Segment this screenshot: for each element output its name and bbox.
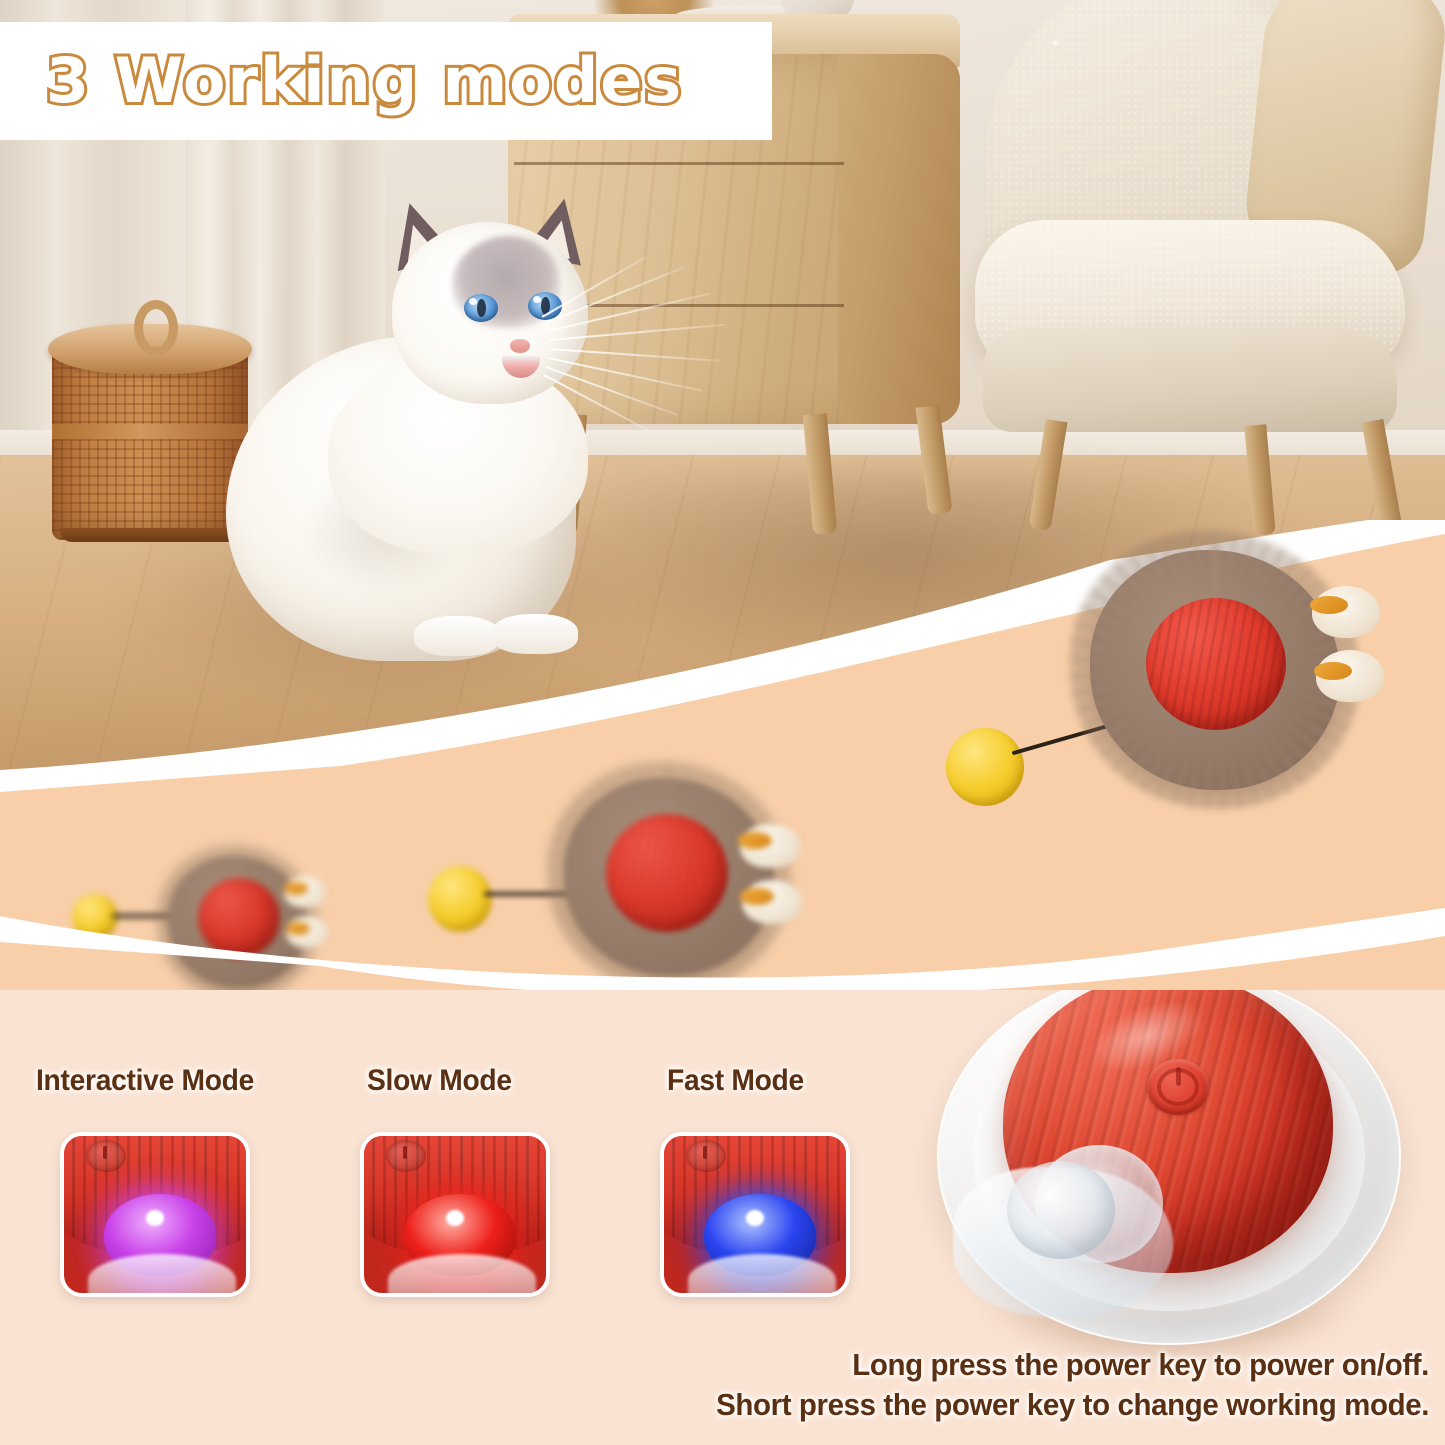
cat-pupil-left xyxy=(477,299,486,317)
crystal-wheel xyxy=(1007,1161,1115,1259)
power-icon xyxy=(686,1140,726,1172)
led-highlight xyxy=(446,1210,464,1226)
nightstand-drawer-seam xyxy=(514,162,844,165)
instructions-block: Long press the power key to power on/off… xyxy=(0,1345,1445,1424)
toy-medium-blurred xyxy=(428,768,828,990)
toy-large-sharp xyxy=(910,550,1445,850)
hero-product-image xyxy=(925,955,1415,1355)
claw-tip xyxy=(286,922,310,935)
nightstand-side-panel xyxy=(838,54,960,424)
mode-label-slow: Slow Mode xyxy=(367,1064,512,1098)
cat-nose xyxy=(510,339,530,353)
page-title: 3 Working modes xyxy=(46,44,683,117)
claw-tip xyxy=(1314,662,1352,680)
instruction-line-1: Long press the power key to power on/off… xyxy=(71,1345,1429,1385)
crystal-wheel xyxy=(388,1254,536,1297)
cat-eye-glint-right xyxy=(533,296,541,303)
led-highlight xyxy=(146,1210,164,1226)
nightstand-leg xyxy=(916,405,953,515)
armchair-leg xyxy=(1029,419,1068,531)
instruction-line-2: Short press the power key to change work… xyxy=(71,1385,1429,1425)
basket-handle-icon xyxy=(134,300,178,356)
claw-tip xyxy=(740,888,774,905)
mode-label-interactive: Interactive Mode xyxy=(36,1064,254,1098)
crystal-wheel xyxy=(688,1254,836,1297)
mode-thumbnail-fast[interactable] xyxy=(660,1132,850,1297)
product-infographic: 3 Working modes xyxy=(0,0,1445,1445)
claw-tip xyxy=(284,882,308,895)
crystal-wheel xyxy=(88,1254,236,1297)
red-ball xyxy=(1146,598,1286,730)
claw-tip xyxy=(1310,596,1348,614)
red-ball xyxy=(606,814,728,932)
power-icon xyxy=(386,1140,426,1172)
boucle-armchair xyxy=(975,0,1445,530)
title-banner: 3 Working modes xyxy=(0,22,772,140)
nightstand-leg xyxy=(803,413,837,535)
led-highlight xyxy=(746,1210,764,1226)
action-band xyxy=(0,520,1445,990)
armchair-leg xyxy=(1362,419,1403,531)
pom-pom xyxy=(428,866,492,932)
mode-label-fast: Fast Mode xyxy=(667,1064,804,1098)
red-ball xyxy=(198,878,280,958)
power-icon-bar xyxy=(1176,1067,1181,1086)
pom-pom xyxy=(946,728,1024,806)
mode-thumbnail-slow[interactable] xyxy=(360,1132,550,1297)
cat-eye-glint-left xyxy=(469,298,477,305)
mode-thumbnail-interactive[interactable] xyxy=(60,1132,250,1297)
toy-small-blurred xyxy=(72,840,342,990)
armchair-base xyxy=(983,328,1397,432)
power-button[interactable] xyxy=(1147,1059,1209,1115)
claw-tip xyxy=(738,832,772,849)
power-icon xyxy=(86,1140,126,1172)
